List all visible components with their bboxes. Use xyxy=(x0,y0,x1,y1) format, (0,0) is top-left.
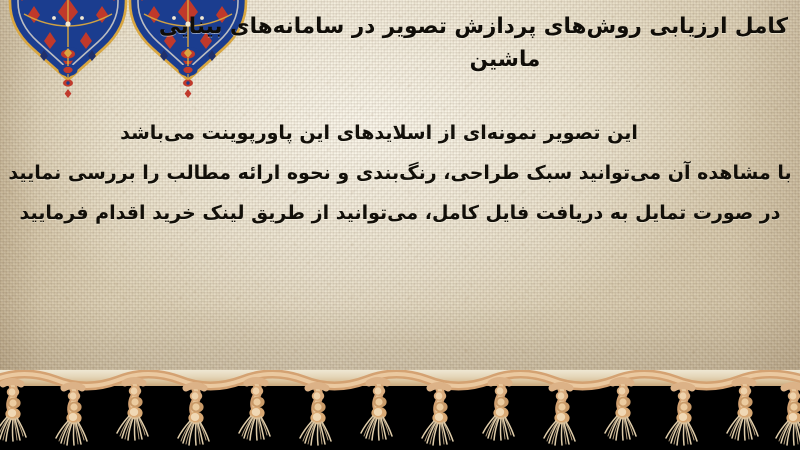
tassel-fringe-band xyxy=(0,370,800,450)
slide-title-line-1: کامل ارزیابی روش‌های پردازش تصویر در سام… xyxy=(222,10,788,43)
tassel-fringe-svg xyxy=(0,370,800,450)
slide-body: این تصویر نمونه‌ای از اسلایدهای این پاور… xyxy=(0,113,800,233)
slide-title: کامل ارزیابی روش‌های پردازش تصویر در سام… xyxy=(222,10,788,76)
body-line-2: با مشاهده آن می‌توانید سبک طراحی، رنگ‌بن… xyxy=(0,153,800,193)
slide-canvas: کامل ارزیابی روش‌های پردازش تصویر در سام… xyxy=(0,0,800,450)
body-line-1: این تصویر نمونه‌ای از اسلایدهای این پاور… xyxy=(0,113,800,153)
slide-title-line-2: ماشین xyxy=(222,43,788,76)
body-line-3: در صورت تمایل به دریافت فایل کامل، می‌تو… xyxy=(0,193,800,233)
